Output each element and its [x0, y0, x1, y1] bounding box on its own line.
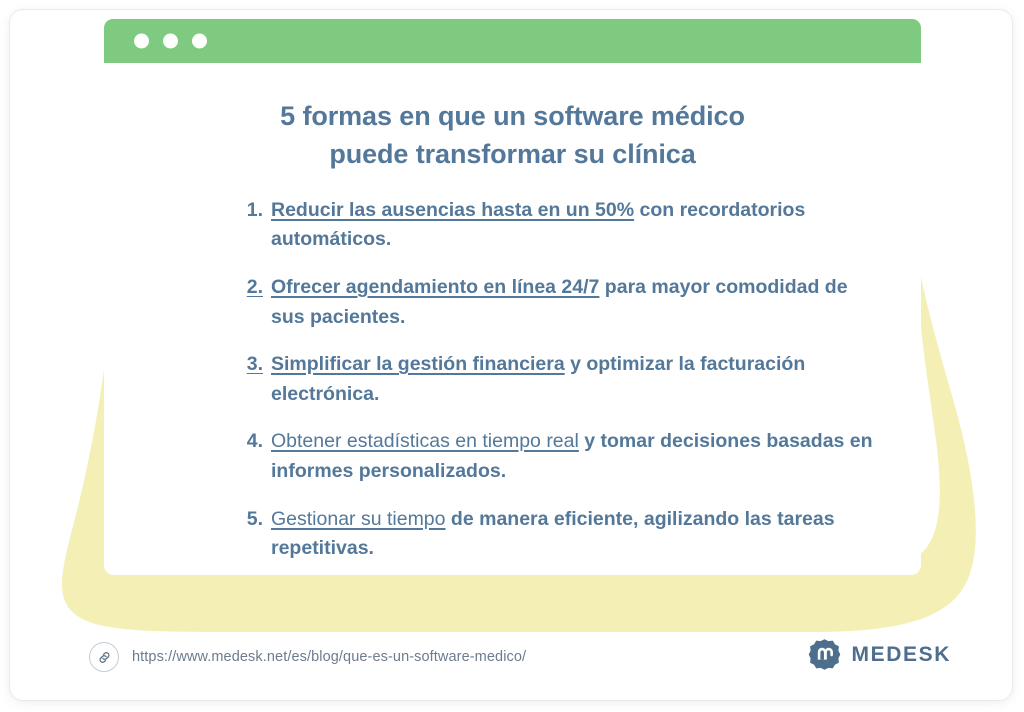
list-item-text: Simplificar la gestión financiera y opti…: [271, 350, 877, 409]
list-item: 2. Ofrecer agendamiento en línea 24/7 pa…: [104, 273, 921, 332]
brand-logo: MEDESK: [808, 638, 951, 671]
window-dot-close-icon[interactable]: [134, 34, 149, 49]
list-item: 3. Simplificar la gestión financiera y o…: [104, 350, 921, 409]
window-control-dots: [134, 34, 207, 49]
page-title-line-1: 5 formas en que un software médico: [280, 101, 745, 131]
list-item-number: 2.: [237, 273, 263, 303]
list-item: 1. Reducir las ausencias hasta en un 50%…: [104, 196, 921, 255]
source-url-text: https://www.medesk.net/es/blog/que-es-un…: [132, 649, 526, 665]
list-item-number: 1.: [237, 196, 263, 226]
window-dot-maximize-icon[interactable]: [192, 34, 207, 49]
list-item: 4. Obtener estadísticas en tiempo real y…: [104, 427, 921, 486]
list-item-text: Ofrecer agendamiento en línea 24/7 para …: [271, 273, 877, 332]
list-item: 5. Gestionar su tiempo de manera eficien…: [104, 505, 921, 564]
brand-name-text: MEDESK: [852, 643, 951, 667]
list-item-number: 3.: [237, 350, 263, 380]
chain-link-icon: [89, 642, 119, 672]
page-title: 5 formas en que un software médico puede…: [104, 63, 921, 174]
window-dot-minimize-icon[interactable]: [163, 34, 178, 49]
list-item-text: Obtener estadísticas en tiempo real y to…: [271, 427, 877, 486]
browser-title-bar: [104, 19, 921, 63]
list-item-text: Reducir las ausencias hasta en un 50% co…: [271, 196, 877, 255]
list-item-number: 5.: [237, 505, 263, 535]
slide-footer: https://www.medesk.net/es/blog/que-es-un…: [10, 614, 1013, 700]
medesk-monogram-badge-icon: [808, 638, 841, 671]
list-item-highlight[interactable]: Ofrecer agendamiento en línea 24/7: [271, 276, 599, 298]
page-title-line-2: puede transformar su clínica: [329, 139, 695, 169]
list-item-text: Gestionar su tiempo de manera eficiente,…: [271, 505, 877, 564]
list-item-highlight[interactable]: Gestionar su tiempo: [271, 508, 446, 530]
list-item-highlight[interactable]: Reducir las ausencias hasta en un 50%: [271, 199, 634, 221]
source-link[interactable]: https://www.medesk.net/es/blog/que-es-un…: [89, 642, 526, 672]
list-item-number: 4.: [237, 427, 263, 457]
slide-content: 5 formas en que un software médico puede…: [104, 63, 921, 575]
benefits-list: 1. Reducir las ausencias hasta en un 50%…: [104, 196, 921, 564]
list-item-highlight[interactable]: Obtener estadísticas en tiempo real: [271, 430, 579, 452]
list-item-highlight[interactable]: Simplificar la gestión financiera: [271, 353, 565, 375]
slide-frame: 5 formas en que un software médico puede…: [9, 9, 1013, 701]
